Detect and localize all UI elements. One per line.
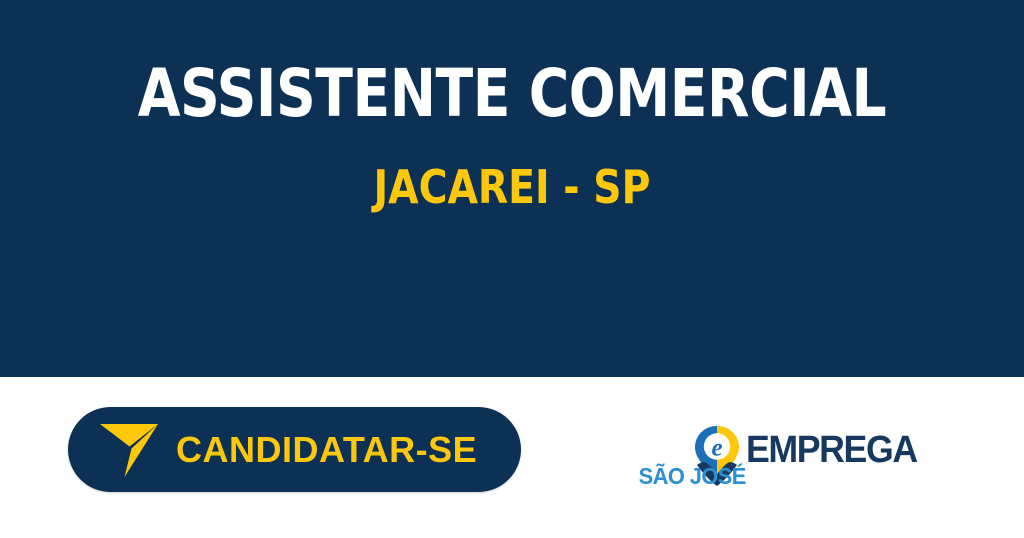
brand-subtitle: SÃO JOSÉ bbox=[639, 465, 746, 488]
svg-text:e: e bbox=[711, 435, 722, 462]
brand-name: EMPREGA bbox=[746, 431, 917, 469]
header-banner: ASSISTENTE COMERCIAL JACAREI - SP bbox=[0, 0, 1024, 377]
brand-logo: e EMPREGA SÃO JOSÉ bbox=[694, 421, 934, 491]
apply-button[interactable]: CANDIDATAR-SE bbox=[68, 407, 521, 492]
apply-button-label: CANDIDATAR-SE bbox=[176, 432, 477, 468]
job-location-subtitle: JACAREI - SP bbox=[26, 164, 999, 210]
send-plane-icon bbox=[98, 421, 160, 479]
page-title: ASSISTENTE COMERCIAL bbox=[36, 62, 988, 126]
job-posting-card: ASSISTENTE COMERCIAL JACAREI - SP CANDID… bbox=[0, 0, 1024, 538]
